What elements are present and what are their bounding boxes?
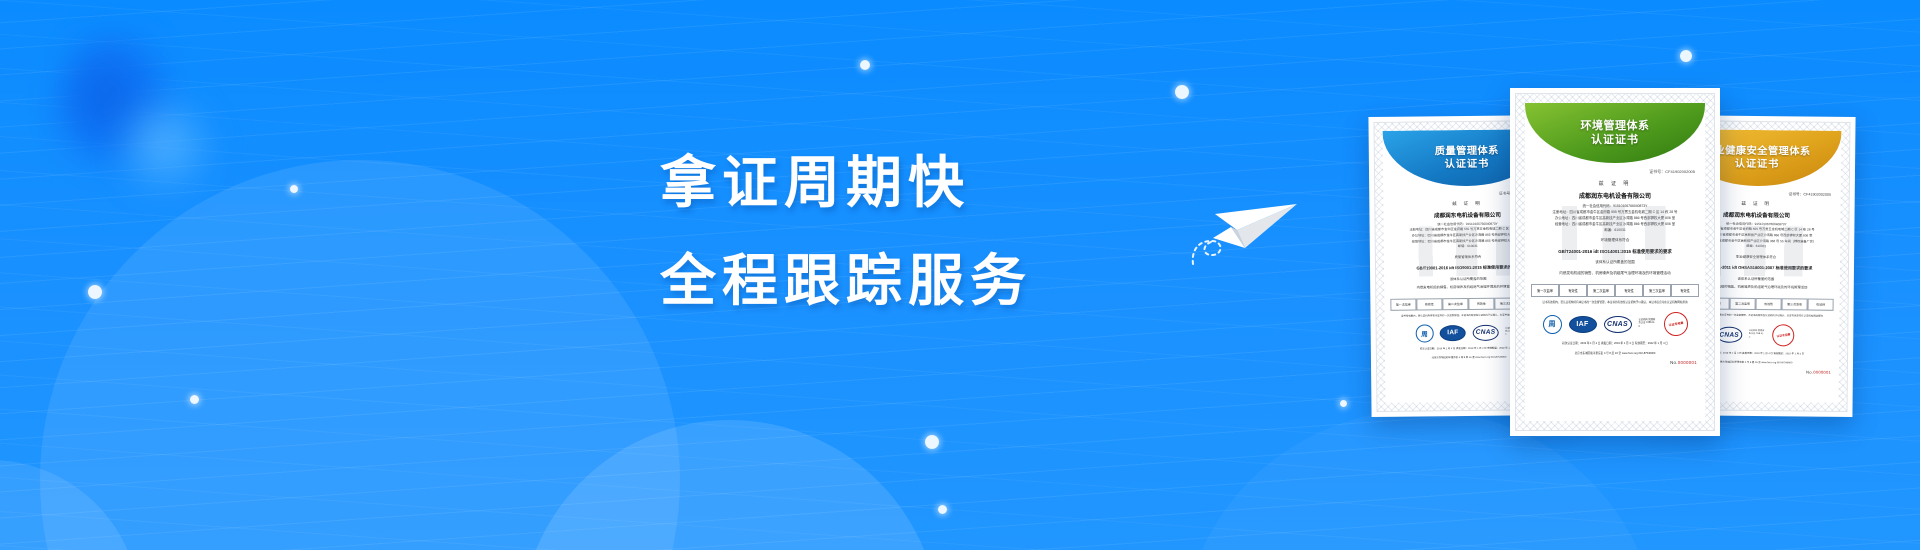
decorative-dot <box>860 60 870 70</box>
certificate-footnote: 证书有效期内，若认证机构持有本证书的一次监督管理，本证书的有效性认证机构予以确认… <box>1533 301 1697 305</box>
certificate-title-banner: 环境管理体系 认证证书 <box>1525 103 1705 163</box>
decorative-dot <box>290 185 298 193</box>
audit-cell: 第二次监审 <box>1730 298 1756 310</box>
red-official-stamp-icon: 认证专用章 <box>1770 323 1795 348</box>
certificate-title-line-2: 认证证书 <box>1445 158 1490 172</box>
iaf-logo-icon: IAF <box>1569 316 1597 333</box>
china-certification-seal-icon: 周 <box>1415 324 1433 342</box>
certificate-inner-frame: 环境管理体系 认证证书 证书号：CF41902002005 兹 证 明 成都润东… <box>1515 93 1715 431</box>
certificate-face: 环境管理体系 认证证书 证书号：CF41902002005 兹 证 明 成都润东… <box>1525 103 1705 421</box>
dark-blue-blob <box>60 35 175 170</box>
serial-number: 0000001 <box>1813 369 1831 374</box>
certificate-issuer: 北京市东城区和平里东街 4 号 8 层 16 室 www.hxcc.org 01… <box>1525 352 1705 356</box>
serial-prefix: No. <box>1670 360 1678 365</box>
certificate-dates: 初次认证日期：2019 年 1 月 4 日 换发日期：2019 年 1 月 4 … <box>1525 342 1705 346</box>
headline-line-1: 拿证周期快 <box>660 138 1090 228</box>
audit-cell: 第三次监审 <box>1782 299 1808 311</box>
cnas-logo-icon: CNAS <box>1472 324 1498 340</box>
audit-cell: 有效性 <box>1808 299 1834 311</box>
certificate-body: 证书号：CF41902002005 兹 证 明 成都润东电机设备有限公司 统一社… <box>1525 163 1705 276</box>
certificate-scope-label: 该体系认证所覆盖的范围 <box>1535 260 1695 265</box>
decorative-dot <box>190 395 199 404</box>
certificate-company-name: 成都润东电机设备有限公司 <box>1535 191 1695 200</box>
audit-cell: 有效性 <box>1416 299 1442 311</box>
audit-cell: 有效性 <box>1671 284 1699 297</box>
audit-cell: 第一次监审 <box>1531 284 1559 297</box>
cnas-logo-icon: CNAS <box>1604 316 1632 333</box>
certificate-attest-label: 兹 证 明 <box>1535 180 1695 187</box>
audit-cell: 有效性 <box>1468 298 1494 310</box>
serial-number: 0000001 <box>1678 360 1697 365</box>
bg-circle-large <box>40 160 680 550</box>
certificate-scope: 内燃发电机组的销售、机房噪声及机组尾气治理环境及的环境管理活动 <box>1535 270 1695 276</box>
certificate-standard: GB/T24001-2016 idt ISO14001:2015 标准使用要求的… <box>1535 249 1695 255</box>
certificate-environment[interactable]: 环境管理体系 认证证书 证书号：CF41902002005 兹 证 明 成都润东… <box>1510 88 1720 436</box>
accreditation-text: 认证机构 管理体系认证 CNB-01-C <box>1749 330 1766 340</box>
decorative-dot <box>1680 50 1692 62</box>
audit-cell: 第二次监审 <box>1442 298 1468 310</box>
certificate-system-label: 环境管理体系符合 <box>1535 238 1695 243</box>
certificate-audit-table: 第一次监审 有效性 第二次监审 有效性 第三次监审 有效性 <box>1531 284 1699 297</box>
certificate-serial: No.0000001 <box>1533 360 1697 365</box>
decorative-dot <box>1340 400 1347 407</box>
iaf-logo-icon: IAF <box>1440 325 1466 341</box>
certificate-title-line-1: 质量管理体系 <box>1435 144 1499 158</box>
certificate-seals: 周 IAF CNAS 认证机构 管理体系认证 CNB-01-C 认证专用章 <box>1525 312 1705 336</box>
headline: 拿证周期快 全程跟踪服务 <box>660 138 1090 326</box>
audit-cell: 第二次监审 <box>1587 284 1615 297</box>
decorative-dot <box>938 505 947 514</box>
bg-circle-medium <box>520 420 940 550</box>
certificate-title-line-1: 环境管理体系 <box>1581 119 1650 133</box>
certificate-title-line-2: 认证证书 <box>1735 158 1780 172</box>
audit-cell: 有效性 <box>1559 284 1587 297</box>
red-official-stamp-icon: 认证专用章 <box>1662 310 1689 337</box>
audit-cell: 有效性 <box>1615 284 1643 297</box>
certificate-number: 证书号：CF41902002005 <box>1535 169 1695 175</box>
decorative-dot <box>925 435 939 449</box>
china-certification-seal-icon: 周 <box>1543 315 1562 334</box>
audit-cell: 有效性 <box>1756 298 1782 310</box>
decorative-dot <box>88 285 102 299</box>
bg-circle-small-left <box>0 460 140 550</box>
accreditation-text: 认证机构 管理体系认证 CNB-01-C <box>1639 319 1657 329</box>
certificate-group: 质量管理体系 认证证书 证书号：CF41902002005 兹 证 明 成都润东… <box>1370 88 1890 468</box>
light-blue-glow <box>110 90 220 200</box>
audit-cell: 第一次监审 <box>1390 299 1416 311</box>
headline-line-2: 全程跟踪服务 <box>660 236 1090 326</box>
certificate-title-line-2: 认证证书 <box>1591 133 1639 148</box>
decorative-dot <box>1175 85 1189 99</box>
audit-cell: 第三次监审 <box>1643 284 1671 297</box>
certificate-postcode: 邮编：610031 <box>1535 227 1695 233</box>
promo-banner: 拿证周期快 全程跟踪服务 质量管理体系 认证证书 <box>0 0 1920 550</box>
paper-plane-icon <box>1185 178 1305 270</box>
